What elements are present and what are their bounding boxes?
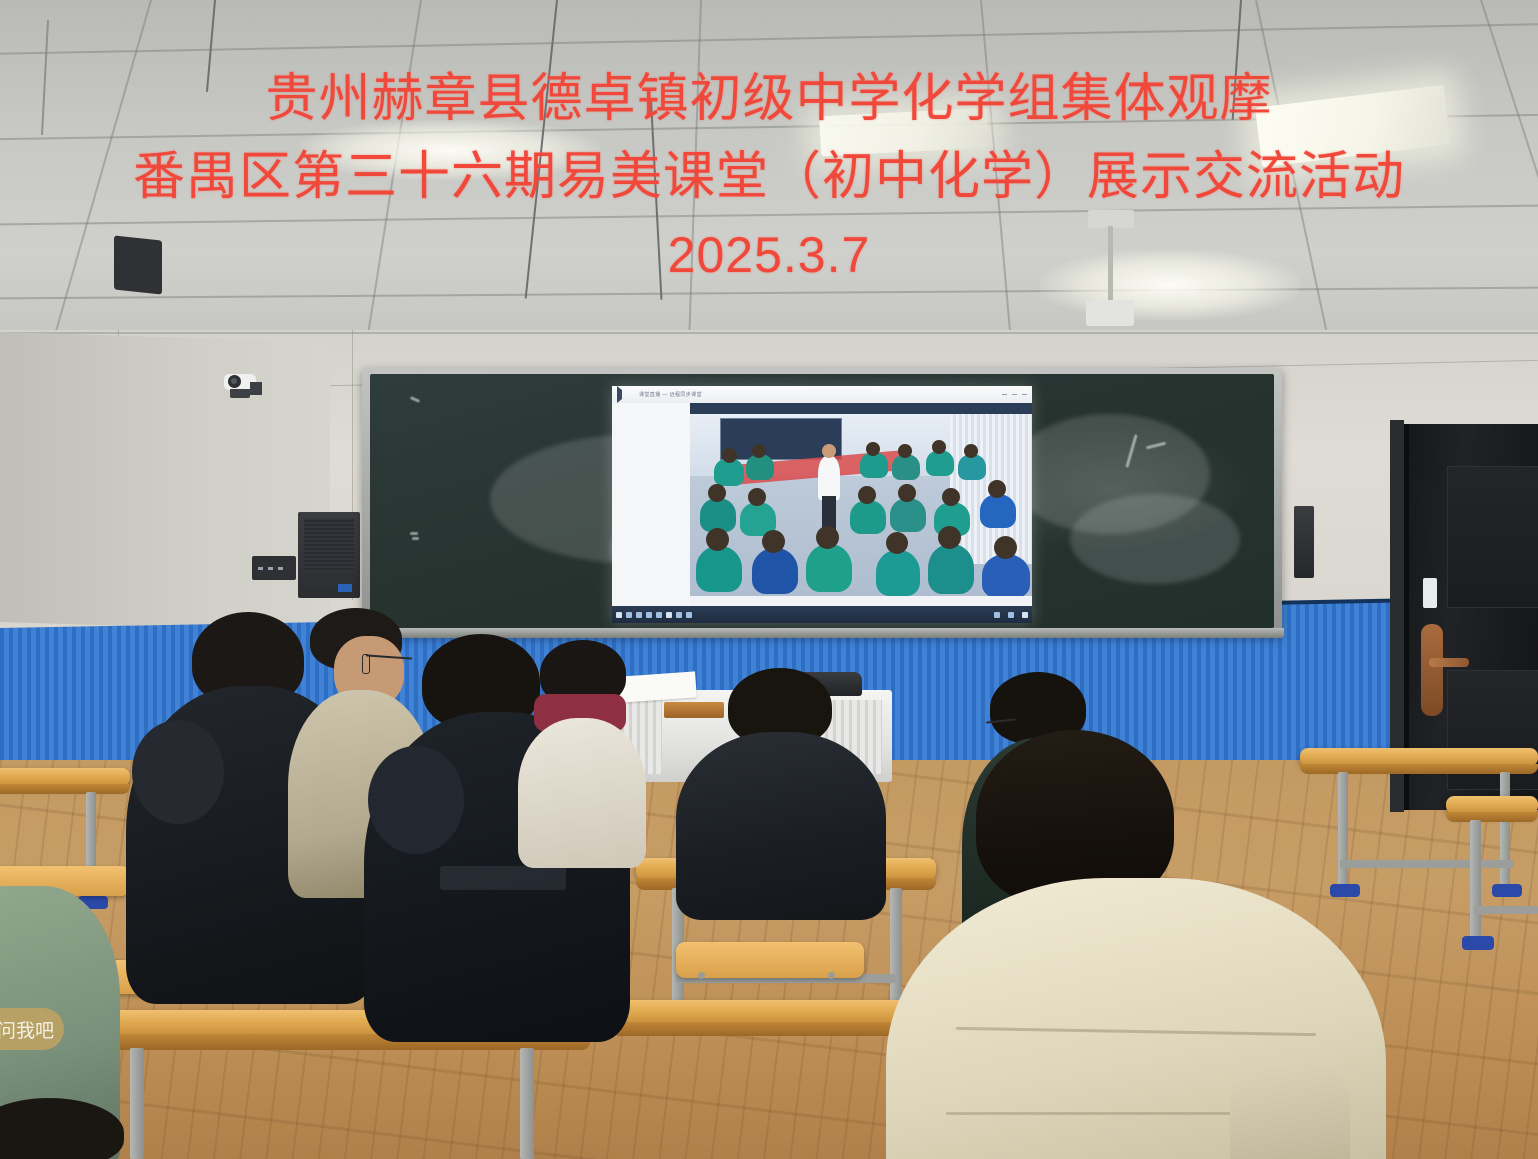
projector-rod (1108, 226, 1113, 304)
tray-icon[interactable] (994, 612, 1000, 618)
student-chair (676, 942, 864, 978)
podium-wood-panel (664, 702, 724, 718)
paper-sheet (619, 671, 697, 702)
ceiling-wire (206, 0, 216, 92)
wall-speaker-icon (298, 512, 360, 598)
desk-leg (1470, 820, 1481, 942)
ceiling (0, 0, 1538, 362)
remote-classroom-video[interactable] (690, 414, 1032, 596)
screen-title-bar: 课堂直播 — 远程同步课堂 (612, 386, 1032, 403)
taskbar-app-icon[interactable] (646, 612, 652, 618)
door-lock-plate (1421, 624, 1443, 716)
taskbar-app-icon[interactable] (666, 612, 672, 618)
wall-socket-plate (252, 556, 296, 580)
desk-edge (0, 784, 130, 794)
ceiling-light-panel (819, 108, 989, 157)
screen-title-text: 课堂直播 — 远程同步课堂 (639, 391, 702, 398)
tray-icon[interactable] (1008, 612, 1014, 618)
torso (518, 718, 646, 868)
desk-rail (1340, 860, 1514, 868)
desk-edge (1446, 812, 1538, 822)
door-sticker (1423, 578, 1437, 608)
wall-speaker-icon (1294, 506, 1314, 578)
screen-side-panel (612, 403, 690, 607)
desk-leg (1500, 772, 1510, 890)
left-wall (0, 332, 330, 632)
start-icon[interactable] (616, 612, 622, 618)
ceiling-wire (1232, 0, 1242, 120)
torso (1230, 1060, 1350, 1159)
watermark-badge[interactable]: 问我吧 (0, 1008, 64, 1050)
jacket-print (440, 866, 566, 890)
screen-taskbar[interactable] (612, 606, 1032, 623)
desk-foot (1330, 884, 1360, 897)
desk-foot (1462, 936, 1494, 950)
ceiling-projector-icon (1086, 300, 1134, 326)
desk-leg (520, 1048, 534, 1159)
ceiling-light-panel (1255, 85, 1451, 168)
taskbar-app-icon[interactable] (626, 612, 632, 618)
ceiling-wire (650, 100, 662, 300)
taskbar-app-icon[interactable] (686, 612, 692, 618)
taskbar-app-icon[interactable] (636, 612, 642, 618)
window-controls[interactable] (1002, 394, 1027, 395)
ptz-camera-icon (216, 374, 268, 398)
taskbar-app-icon[interactable] (676, 612, 682, 618)
desk-leg (130, 1048, 144, 1159)
classroom-photo: 课堂直播 — 远程同步课堂 (0, 0, 1538, 1159)
system-tray[interactable] (990, 612, 1028, 618)
taskbar-app-icon[interactable] (656, 612, 662, 618)
desk-leg (890, 888, 902, 1008)
play-arrow-icon (617, 386, 631, 403)
projected-screen[interactable]: 课堂直播 — 远程同步课堂 (612, 386, 1032, 623)
ceiling-speaker-icon (114, 235, 162, 294)
desk-leg (1338, 772, 1348, 890)
desk-rail (1474, 906, 1538, 914)
torso (676, 732, 886, 920)
desk-foot (1492, 884, 1522, 897)
tray-icon[interactable] (1022, 612, 1028, 618)
watermark-text: 问我吧 (0, 1016, 54, 1043)
door-handle[interactable] (1429, 658, 1469, 667)
